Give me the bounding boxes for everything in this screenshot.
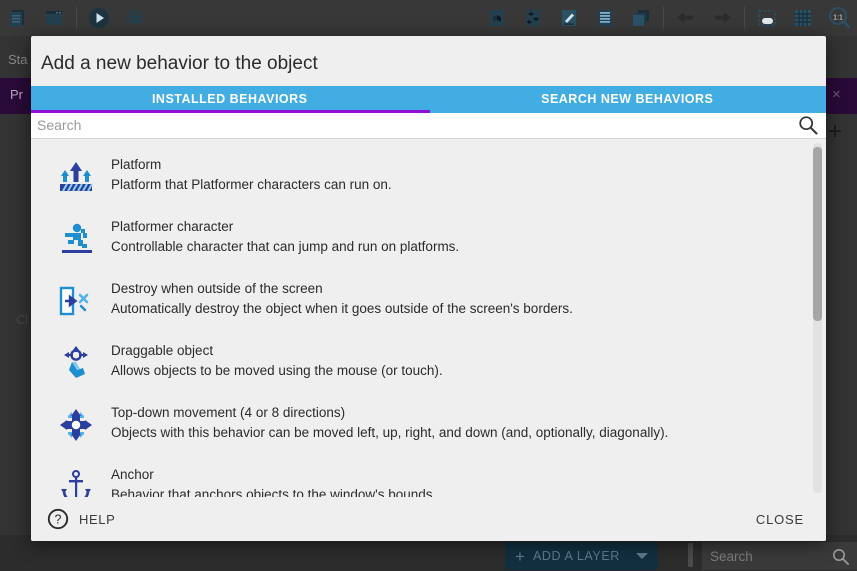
list-item-description: Platform that Platformer characters can …: [111, 175, 392, 195]
start-page-tab[interactable]: Sta: [8, 52, 28, 67]
toolbar-separator: [76, 7, 77, 29]
list-item-description: Objects with this behavior can be moved …: [111, 423, 668, 443]
behaviors-list: Platform Platform that Platformer charac…: [31, 139, 826, 497]
behaviors-list-container: Platform Platform that Platformer charac…: [31, 139, 826, 497]
list-item-title: Draggable object: [111, 341, 443, 361]
list-item[interactable]: Top-down movement (4 or 8 directions) Ob…: [31, 393, 826, 455]
list-item[interactable]: Destroy when outside of the screen Autom…: [31, 269, 826, 331]
tab-search-new-behaviors[interactable]: SEARCH NEW BEHAVIORS: [429, 86, 827, 113]
list-item[interactable]: Draggable object Allows objects to be mo…: [31, 331, 826, 393]
toolbar-right-group: 1:1: [479, 2, 857, 34]
mask-icon[interactable]: [749, 2, 785, 34]
draggable-object-icon: [53, 342, 99, 384]
list-item[interactable]: Platformer character Controllable charac…: [31, 207, 826, 269]
main-toolbar: 1:1: [0, 0, 857, 36]
layer-search-placeholder: Search: [710, 549, 832, 564]
list-item-text: Destroy when outside of the screen Autom…: [111, 278, 573, 319]
project-tab-label: Pr: [10, 87, 23, 102]
search-input[interactable]: [31, 113, 790, 139]
toolbar-separator: [744, 7, 745, 29]
redo-icon[interactable]: [704, 2, 740, 34]
list-item[interactable]: Anchor Behavior that anchors objects to …: [31, 455, 826, 497]
list-item-text: Platform Platform that Platformer charac…: [111, 154, 392, 195]
list-item-text: Draggable object Allows objects to be mo…: [111, 340, 443, 381]
add-layer-button[interactable]: + ADD A LAYER: [505, 542, 658, 570]
plus-icon: +: [515, 548, 525, 565]
events-list-icon[interactable]: [587, 2, 623, 34]
layers-icon[interactable]: [623, 2, 659, 34]
list-item-description: Controllable character that can jump and…: [111, 237, 459, 257]
platform-icon: [53, 156, 99, 198]
list-item-description: Behavior that anchors objects to the win…: [111, 485, 436, 497]
object-groups-icon[interactable]: [515, 2, 551, 34]
toolbar-separator: [663, 7, 664, 29]
close-icon[interactable]: ×: [832, 87, 841, 102]
list-item-title: Anchor: [111, 465, 436, 485]
dialog-title: Add a new behavior to the object: [31, 42, 826, 86]
search-button[interactable]: [790, 115, 826, 135]
add-layer-label: ADD A LAYER: [533, 549, 620, 563]
list-item-title: Destroy when outside of the screen: [111, 279, 573, 299]
project-manager-icon[interactable]: [0, 2, 36, 34]
anchor-icon: [53, 466, 99, 497]
list-item-text: Platformer character Controllable charac…: [111, 216, 459, 257]
add-tab-button[interactable]: +: [828, 120, 842, 144]
preview-play-icon[interactable]: [81, 2, 117, 34]
help-icon: ?: [47, 508, 69, 530]
clone-label: Cl: [16, 312, 28, 327]
list-item-description: Automatically destroy the object when it…: [111, 299, 573, 319]
add-behavior-dialog: Add a new behavior to the object INSTALL…: [31, 36, 826, 541]
search-icon: [798, 115, 818, 135]
grid-icon[interactable]: [785, 2, 821, 34]
list-item[interactable]: Platform Platform that Platformer charac…: [31, 145, 826, 207]
undo-icon[interactable]: [668, 2, 704, 34]
scene-editor-icon[interactable]: [36, 2, 72, 34]
active-tab-underline: [31, 110, 430, 113]
platformer-character-icon: [53, 218, 99, 260]
close-button[interactable]: CLOSE: [752, 506, 808, 533]
chevron-down-icon[interactable]: [636, 553, 648, 559]
zoom-reset-icon[interactable]: 1:1: [821, 2, 857, 34]
svg-text:1:1: 1:1: [833, 15, 843, 22]
toolbar-left-group: [0, 2, 153, 34]
search-row: [31, 113, 826, 140]
list-item-text: Top-down movement (4 or 8 directions) Ob…: [111, 402, 668, 443]
list-item-title: Platform: [111, 155, 392, 175]
debug-icon[interactable]: [117, 2, 153, 34]
list-item-title: Top-down movement (4 or 8 directions): [111, 403, 668, 423]
objects-editor-icon[interactable]: [479, 2, 515, 34]
list-item-description: Allows objects to be moved using the mou…: [111, 361, 443, 381]
search-icon: [832, 548, 849, 565]
top-down-movement-icon: [53, 404, 99, 446]
dialog-footer: ? HELP CLOSE: [31, 497, 826, 541]
svg-text:?: ?: [55, 513, 62, 527]
list-item-title: Platformer character: [111, 217, 459, 237]
panel-resize-handle[interactable]: [688, 543, 693, 567]
dialog-tabbar: INSTALLED BEHAVIORS SEARCH NEW BEHAVIORS: [31, 86, 826, 113]
destroy-outside-screen-icon: [53, 280, 99, 322]
list-scrollbar-thumb[interactable]: [813, 147, 822, 321]
help-button[interactable]: ? HELP: [47, 508, 115, 530]
list-scrollbar-track[interactable]: [813, 143, 822, 493]
layer-search-field[interactable]: Search: [702, 542, 857, 570]
list-item-text: Anchor Behavior that anchors objects to …: [111, 464, 436, 497]
help-label: HELP: [79, 512, 115, 527]
properties-edit-icon[interactable]: [551, 2, 587, 34]
